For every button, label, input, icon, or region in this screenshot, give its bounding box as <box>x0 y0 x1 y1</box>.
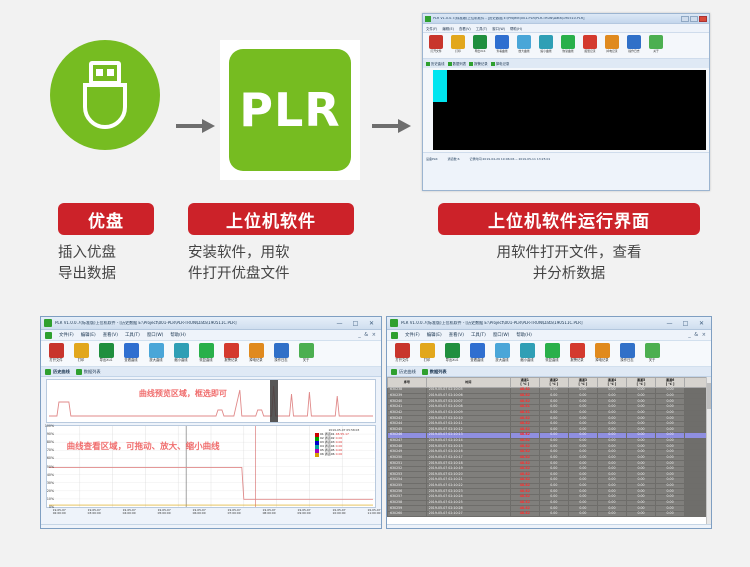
mdi-window-controls[interactable]: _ & × <box>688 332 707 338</box>
y-tick-label: 90% <box>47 432 54 436</box>
data-table-body[interactable]: 序号时间通道1[ ℃ ]通道2[ ℃ ]通道3[ ℃ ]通道4[ ℃ ]通道5[… <box>387 377 711 529</box>
title-bar: PLR V1.0.0.7(标准版)上位机软件 - [历史数据 E:\Projec… <box>41 317 381 330</box>
tab-0[interactable]: 历史曲线 <box>426 61 445 66</box>
history-curve-window[interactable]: PLR V1.0.0.7(标准版)上位机软件 - [历史数据 E:\Projec… <box>40 316 382 529</box>
chart-area[interactable]: 设备PLR通道数:6记录时间:2019-04-29 19:06:06 -- 20… <box>423 68 709 164</box>
status-bar: 设备名称:PLR通道数目:6记录时间:2019-04-29 19:06:06 -… <box>41 524 381 529</box>
table-cell: 2019-05-07 02:10:27 <box>426 511 510 517</box>
column-header-2[interactable]: 通道1[ ℃ ] <box>510 378 539 388</box>
toolbar-button-label: 打印 <box>448 50 468 53</box>
menu-item-5[interactable]: 帮助(H) <box>516 332 532 338</box>
status-cell-1: 通道数目:6 <box>416 529 441 530</box>
power-loss-icon <box>595 343 610 358</box>
about-icon <box>645 343 660 358</box>
menu-item-5[interactable]: 帮助(H) <box>170 332 186 338</box>
table-cell: 0.00 <box>539 511 568 517</box>
tab-0[interactable]: 历史曲线 <box>45 369 70 375</box>
toolbar-button-label: 打开文件 <box>390 359 414 363</box>
title-bar: PLR V1.0.0.7(标准版)上位机软件 - [历史数据 E:\Projec… <box>423 14 709 24</box>
toolbar-button-operation-log-icon[interactable]: 操作日志 <box>615 343 639 363</box>
toolbar-button-label: 导出XLS <box>470 50 490 53</box>
table-row[interactable]: 6302602019-05-07 02:10:2748.820.000.000.… <box>388 511 711 517</box>
legend-value: 0.00 <box>336 453 343 457</box>
status-cell-4: 曲线占:11页16 <box>218 529 248 530</box>
table-cell: 630260 <box>388 511 427 517</box>
toolbar-button-2[interactable]: 导出XLS <box>470 35 490 53</box>
tab-label: 数据列表 <box>453 61 467 66</box>
operation-log-icon <box>620 343 635 358</box>
toolbar-button-3[interactable]: 查看曲线 <box>492 35 512 53</box>
toolbar-button-zoom-out-curve-icon[interactable]: 缩小曲线 <box>515 343 539 363</box>
column-header-6[interactable]: 通道5[ ℃ ] <box>626 378 655 388</box>
legend-label: 06 通道06 <box>320 453 335 457</box>
status-cell-4: 数据共:11页16 <box>564 529 594 530</box>
menu-item-4[interactable]: 窗口(W) <box>147 332 164 338</box>
window-title: PLR V1.0.0.7(标准版)上位机软件 - [历史数据 E:\Projec… <box>433 17 679 20</box>
status-cell-3: 记录间隔:1秒 <box>535 529 563 530</box>
toolbar-button-1[interactable]: 打印 <box>448 35 468 53</box>
tab-label: 数据列表 <box>84 369 101 375</box>
document-icon <box>45 332 52 339</box>
x-tick-label: 19-05-0706:00:00 <box>193 509 206 516</box>
document-icon <box>391 332 398 339</box>
highlight-band <box>433 70 447 102</box>
right-arrow-icon <box>372 118 412 134</box>
step-caption-3: 用软件打开文件，查看并分析数据 <box>438 243 700 285</box>
toolbar-button-label: 打印 <box>415 359 439 363</box>
x-tick-label: 19-05-0707:00:00 <box>228 509 241 516</box>
tool-icon-3 <box>495 35 509 49</box>
status-cell-0: 设备名称:PLR <box>41 529 70 530</box>
menu-item-3[interactable]: 工具(T) <box>476 26 488 31</box>
toolbar-button-label: 恢复曲线 <box>540 359 564 363</box>
menu-item-3[interactable]: 工具(T) <box>125 332 140 338</box>
tab-label: 掉电记录 <box>496 61 510 66</box>
title-bar: PLR V1.0.0.7(标准版)上位机软件 - [历史数据 E:\Projec… <box>387 317 711 330</box>
tab-1[interactable]: 数据列表 <box>448 61 467 66</box>
toolbar-button-reset-curve-icon[interactable]: 恢复曲线 <box>194 343 218 363</box>
window-title: PLR V1.0.0.7(标准版)上位机软件 - [历史数据 E:\Projec… <box>401 321 660 325</box>
tab-label: 历史曲线 <box>399 369 416 375</box>
toolbar[interactable]: 打开文件打印导出XLS查看曲线放大曲线缩小曲线恢复曲线报警记录掉电记录操作日志关… <box>41 341 381 367</box>
table-cell: 0.00 <box>656 511 685 517</box>
app-icon <box>390 319 398 327</box>
toolbar-button-print-icon[interactable]: 打印 <box>69 343 93 363</box>
plr-logo: PLR <box>220 40 360 180</box>
x-tick-label: 19-05-0704:00:00 <box>123 509 136 516</box>
x-tick-label: 19-05-0709:00:00 <box>297 509 310 516</box>
toolbar-button-4[interactable]: 放大曲线 <box>514 35 534 53</box>
y-tick-label: 70% <box>47 448 54 452</box>
toolbar-button-power-loss-icon[interactable]: 掉电记录 <box>244 343 268 363</box>
app-icon <box>425 16 431 22</box>
chart-legend: 2019-05-07 05:58:03 01 通道0148.55.1702 通道… <box>315 428 373 457</box>
status-cell-0: 设备PLR <box>426 157 438 161</box>
y-tick-label: 10% <box>47 497 54 501</box>
toolbar-button-label: 掉电记录 <box>590 359 614 363</box>
zoom-in-curve-icon <box>149 343 164 358</box>
tab-bar[interactable]: 历史曲线数据列表报警记录掉电记录 <box>423 59 709 68</box>
menu-item-1[interactable]: 编辑(E) <box>427 332 442 338</box>
status-cell-2: 记录时间:2019-04-29 19:06:06 -- 2019-05-11 1… <box>441 529 536 530</box>
vertical-scrollbar[interactable] <box>706 377 711 524</box>
step-label-1: 优盘 <box>58 203 154 235</box>
tool-icon-0 <box>429 35 443 49</box>
zoom-out-curve-icon <box>174 343 189 358</box>
tool-icon-5 <box>539 35 553 49</box>
toolbar-button-label: 打印 <box>69 359 93 363</box>
curve-preview-strip[interactable]: 曲线预览区域，框选即可 <box>46 379 376 423</box>
alarm-record-icon <box>570 343 585 358</box>
column-header-0[interactable]: 序号 <box>388 378 427 388</box>
toolbar-button-label: 缩小曲线 <box>169 359 193 363</box>
step-caption-2: 安装软件，用软件打开优盘文件 <box>188 243 290 285</box>
toolbar-button-alarm-record-icon[interactable]: 报警记录 <box>565 343 589 363</box>
toolbar-button-label: 掉电记录 <box>602 50 622 53</box>
y-axis: 100%90%80%70%60%50%40%30%20%10%0% <box>42 426 54 507</box>
toolbar-button-alarm-record-icon[interactable]: 报警记录 <box>219 343 243 363</box>
column-header-7[interactable]: 通道6[ ℃ ] <box>656 378 685 388</box>
y-tick-label: 30% <box>47 481 54 485</box>
toolbar-button-about-icon[interactable]: 关于 <box>640 343 664 363</box>
right-arrow-icon <box>176 118 216 134</box>
x-tick-label: 19-05-0705:00:00 <box>158 509 171 516</box>
legend-swatch <box>315 453 319 457</box>
menu-item-1[interactable]: 编辑(E) <box>442 26 454 31</box>
toolbar-button-label: 打开文件 <box>426 50 446 53</box>
table-cell: 0.00 <box>597 511 626 517</box>
menu-item-1[interactable]: 编辑(E) <box>81 332 96 338</box>
y-tick-label: 40% <box>47 473 54 477</box>
tab-label: 历史曲线 <box>53 369 70 375</box>
x-tick-label: 19-05-0703:00:00 <box>88 509 101 516</box>
tab-1[interactable]: 数据列表 <box>76 369 101 375</box>
tab-icon <box>469 62 473 66</box>
selection-box[interactable] <box>270 380 278 422</box>
reset-curve-icon <box>199 343 214 358</box>
preview-sparkline <box>47 380 375 422</box>
table-cell: 0.00 <box>568 511 597 517</box>
tab-bar[interactable]: 历史曲线数据列表 <box>387 367 711 377</box>
toolbar-button-label: 放大曲线 <box>144 359 168 363</box>
y-tick-label: 50% <box>47 465 54 469</box>
toolbar-button-label: 关于 <box>646 50 666 53</box>
toolbar-button-label: 查看曲线 <box>119 359 143 363</box>
alarm-record-icon <box>224 343 239 358</box>
tool-icon-2 <box>473 35 487 49</box>
toolbar[interactable]: 打开文件打印导出XLS查看曲线放大曲线缩小曲线恢复曲线报警记录掉电记录操作日志关… <box>423 33 709 59</box>
toolbar[interactable]: 打开文件打印导出XLS查看曲线放大曲线缩小曲线恢复曲线报警记录掉电记录操作日志关… <box>387 341 711 367</box>
app-icon <box>44 319 52 327</box>
menu-item-0[interactable]: 文件(F) <box>405 332 420 338</box>
menu-item-0[interactable]: 文件(F) <box>59 332 74 338</box>
toolbar-button-5[interactable]: 缩小曲线 <box>536 35 556 53</box>
toolbar-button-label: 恢复曲线 <box>558 50 578 53</box>
print-icon <box>74 343 89 358</box>
toolbar-button-reset-curve-icon[interactable]: 恢复曲线 <box>540 343 564 363</box>
toolbar-button-label: 恢复曲线 <box>194 359 218 363</box>
tab-1[interactable]: 数据列表 <box>422 369 447 375</box>
x-tick-label: 19-05-0708:00:00 <box>263 509 276 516</box>
tab-2[interactable]: 报警记录 <box>469 61 488 66</box>
toolbar-button-label: 掉电记录 <box>244 359 268 363</box>
window-controls[interactable] <box>681 16 707 22</box>
status-bar: 设备PLR通道数:6记录时间:2019-04-29 19:06:06 -- 20… <box>423 152 709 164</box>
tab-icon <box>491 62 495 66</box>
toolbar-button-export-xls-icon[interactable]: 导出XLS <box>440 343 464 363</box>
toolbar-button-zoom-out-curve-icon[interactable]: 缩小曲线 <box>169 343 193 363</box>
menu-item-5[interactable]: 帮助(H) <box>510 26 522 31</box>
toolbar-button-open-file-icon[interactable]: 打开文件 <box>44 343 68 363</box>
y-tick-label: 80% <box>47 440 54 444</box>
window-title: PLR V1.0.0.7(标准版)上位机软件 - [历史数据 E:\Projec… <box>55 321 330 325</box>
about-icon <box>299 343 314 358</box>
toolbar-button-label: 操作日志 <box>615 359 639 363</box>
toolbar-button-0[interactable]: 打开文件 <box>426 35 446 53</box>
open-file-icon <box>49 343 64 358</box>
curve-body[interactable]: 曲线预览区域，框选即可 <box>41 377 381 529</box>
menu-item-3[interactable]: 工具(T) <box>471 332 486 338</box>
toolbar-button-label: 导出XLS <box>440 359 464 363</box>
view-curve-icon <box>124 343 139 358</box>
menu-bar[interactable]: 文件(F)编辑(E)查看(V)工具(T)窗口(W)帮助(H) <box>423 24 709 33</box>
minimize-button[interactable]: — <box>663 320 676 327</box>
y-axis <box>424 70 433 150</box>
close-button[interactable] <box>699 16 707 22</box>
preview-annotation: 曲线预览区域，框选即可 <box>139 388 227 399</box>
minimize-button[interactable] <box>681 16 689 22</box>
tab-icon <box>422 369 428 375</box>
tab-3[interactable]: 掉电记录 <box>491 61 510 66</box>
x-axis: 19-05-0702:00:0019-05-0703:00:0019-05-07… <box>46 508 376 521</box>
data-list-window[interactable]: PLR V1.0.0.7(标准版)上位机软件 - [历史数据 E:\Projec… <box>386 316 712 529</box>
zoom-in-curve-icon <box>495 343 510 358</box>
status-cell-1: 通道数目:6 <box>70 529 95 530</box>
column-header-3[interactable]: 通道2[ ℃ ] <box>539 378 568 388</box>
step-label-3: 上位机软件运行界面 <box>438 203 700 235</box>
status-cell-0: 设备名称:PLR <box>387 529 416 530</box>
tab-0[interactable]: 历史曲线 <box>391 369 416 375</box>
column-header-1[interactable]: 时间 <box>426 378 510 388</box>
menu-item-2[interactable]: 查看(V) <box>449 332 464 338</box>
data-table[interactable]: 序号时间通道1[ ℃ ]通道2[ ℃ ]通道3[ ℃ ]通道4[ ℃ ]通道5[… <box>387 377 711 517</box>
print-icon <box>420 343 435 358</box>
column-header-4[interactable]: 通道3[ ℃ ] <box>568 378 597 388</box>
tab-bar[interactable]: 历史曲线数据列表 <box>41 367 381 377</box>
close-button[interactable]: ✕ <box>365 320 378 327</box>
toolbar-button-label: 操作日志 <box>624 50 644 53</box>
tool-icon-7 <box>583 35 597 49</box>
toolbar-button-label: 查看曲线 <box>465 359 489 363</box>
maximize-button[interactable]: □ <box>679 320 692 327</box>
toolbar-button-label: 报警记录 <box>580 50 600 53</box>
usb-drive-icon <box>50 40 160 150</box>
plr-logo-text: PLR <box>239 87 340 133</box>
tab-icon <box>391 369 397 375</box>
table-header-row: 序号时间通道1[ ℃ ]通道2[ ℃ ]通道3[ ℃ ]通道4[ ℃ ]通道5[… <box>388 378 711 388</box>
x-tick-label: 19-05-0711:00:00 <box>367 509 380 516</box>
tool-icon-4 <box>517 35 531 49</box>
toolbar-button-zoom-in-curve-icon[interactable]: 放大曲线 <box>490 343 514 363</box>
main-chart[interactable]: 100%90%80%70%60%50%40%30%20%10%0% 曲线查看区域… <box>46 425 376 508</box>
tab-icon <box>448 62 452 66</box>
toolbar-button-export-xls-icon[interactable]: 导出XLS <box>94 343 118 363</box>
status-bar: 设备名称:PLR通道数目:6记录时间:2019-04-29 19:06:06 -… <box>387 524 711 529</box>
toolbar-button-power-loss-icon[interactable]: 掉电记录 <box>590 343 614 363</box>
tool-icon-8 <box>605 35 619 49</box>
view-curve-icon <box>470 343 485 358</box>
toolbar-button-operation-log-icon[interactable]: 操作日志 <box>269 343 293 363</box>
menu-item-4[interactable]: 窗口(W) <box>492 26 505 31</box>
status-cell-2: 记录时间:2019-04-29 19:06:06 -- 2019-05-11 1… <box>95 529 190 530</box>
toolbar-button-label: 缩小曲线 <box>536 50 556 53</box>
menu-bar[interactable]: 文件(F)编辑(E)查看(V)工具(T)窗口(W)帮助(H)_ & × <box>387 330 711 341</box>
x-tick-label: 19-05-0702:00:00 <box>53 509 66 516</box>
reset-curve-icon <box>545 343 560 358</box>
toolbar-button-label: 报警记录 <box>565 359 589 363</box>
export-xls-icon <box>445 343 460 358</box>
minimize-button[interactable]: — <box>333 320 346 327</box>
step-label-2: 上位机软件 <box>188 203 354 235</box>
table-cell: 48.82 <box>510 511 539 517</box>
y-tick-label: 100% <box>45 424 54 428</box>
tab-icon <box>76 369 82 375</box>
scrollbar-thumb[interactable] <box>707 383 711 409</box>
tab-label: 历史曲线 <box>431 61 445 66</box>
tool-icon-6 <box>561 35 575 49</box>
menu-item-0[interactable]: 文件(F) <box>426 26 437 31</box>
toolbar-button-zoom-in-curve-icon[interactable]: 放大曲线 <box>144 343 168 363</box>
close-button[interactable]: ✕ <box>695 320 708 327</box>
toolbar-button-about-icon[interactable]: 关于 <box>294 343 318 363</box>
toolbar-button-label: 放大曲线 <box>514 50 534 53</box>
power-loss-icon <box>249 343 264 358</box>
tab-label: 报警记录 <box>474 61 488 66</box>
app-window-preview[interactable]: PLR V1.0.0.7(标准版)上位机软件 - [历史数据 E:\Projec… <box>422 13 710 191</box>
step-caption-1: 插入优盘导出数据 <box>58 243 116 285</box>
toolbar-button-7[interactable]: 报警记录 <box>580 35 600 53</box>
x-tick-label: 19-05-0710:00:00 <box>332 509 345 516</box>
toolbar-button-label: 导出XLS <box>94 359 118 363</box>
maximize-button[interactable]: □ <box>349 320 362 327</box>
toolbar-button-view-curve-icon[interactable]: 查看曲线 <box>119 343 143 363</box>
toolbar-button-label: 关于 <box>640 359 664 363</box>
toolbar-button-print-icon[interactable]: 打印 <box>415 343 439 363</box>
table-cell: 0.00 <box>626 511 655 517</box>
toolbar-button-open-file-icon[interactable]: 打开文件 <box>390 343 414 363</box>
toolbar-button-label: 报警记录 <box>219 359 243 363</box>
toolbar-button-label: 关于 <box>294 359 318 363</box>
status-cell-1: 通道数:6 <box>448 157 460 161</box>
tool-icon-9 <box>627 35 641 49</box>
tab-icon <box>45 369 51 375</box>
menu-item-2[interactable]: 查看(V) <box>103 332 118 338</box>
export-xls-icon <box>99 343 114 358</box>
zoom-out-curve-icon <box>520 343 535 358</box>
toolbar-button-label: 放大曲线 <box>490 359 514 363</box>
toolbar-button-view-curve-icon[interactable]: 查看曲线 <box>465 343 489 363</box>
toolbar-button-6[interactable]: 恢复曲线 <box>558 35 578 53</box>
menu-item-4[interactable]: 窗口(W) <box>493 332 510 338</box>
toolbar-button-9[interactable]: 操作日志 <box>624 35 644 53</box>
toolbar-button-label: 打开文件 <box>44 359 68 363</box>
menu-item-2[interactable]: 查看(V) <box>459 26 471 31</box>
toolbar-button-label: 操作日志 <box>269 359 293 363</box>
operation-log-icon <box>274 343 289 358</box>
open-file-icon <box>395 343 410 358</box>
toolbar-button-label: 查看曲线 <box>492 50 512 53</box>
toolbar-button-8[interactable]: 掉电记录 <box>602 35 622 53</box>
flow-diagram-section: PLR PLR V1.0.0.7(标准版)上位机软件 - [历史数据 E:\Pr… <box>0 0 750 305</box>
mdi-window-controls[interactable]: _ & × <box>358 332 377 338</box>
status-cell-3: 记录间隔:1秒 <box>189 529 217 530</box>
y-tick-label: 60% <box>47 456 54 460</box>
tab-label: 数据列表 <box>430 369 447 375</box>
tab-icon <box>426 62 430 66</box>
plot-canvas[interactable] <box>433 70 706 150</box>
menu-bar[interactable]: 文件(F)编辑(E)查看(V)工具(T)窗口(W)帮助(H)_ & × <box>41 330 381 341</box>
y-tick-label: 20% <box>47 489 54 493</box>
toolbar-button-label: 缩小曲线 <box>515 359 539 363</box>
status-cell-2: 记录时间:2019-04-29 19:06:06 -- 2019-05-11 1… <box>470 157 551 161</box>
toolbar-button-10[interactable]: 关于 <box>646 35 666 53</box>
chart-annotation: 曲线查看区域，可拖动、放大、缩小曲线 <box>67 440 220 452</box>
tool-icon-1 <box>451 35 465 49</box>
maximize-button[interactable] <box>690 16 698 22</box>
tool-icon-10 <box>649 35 663 49</box>
legend-row-5[interactable]: 06 通道060.00 <box>315 453 373 457</box>
column-header-5[interactable]: 通道4[ ℃ ] <box>597 378 626 388</box>
